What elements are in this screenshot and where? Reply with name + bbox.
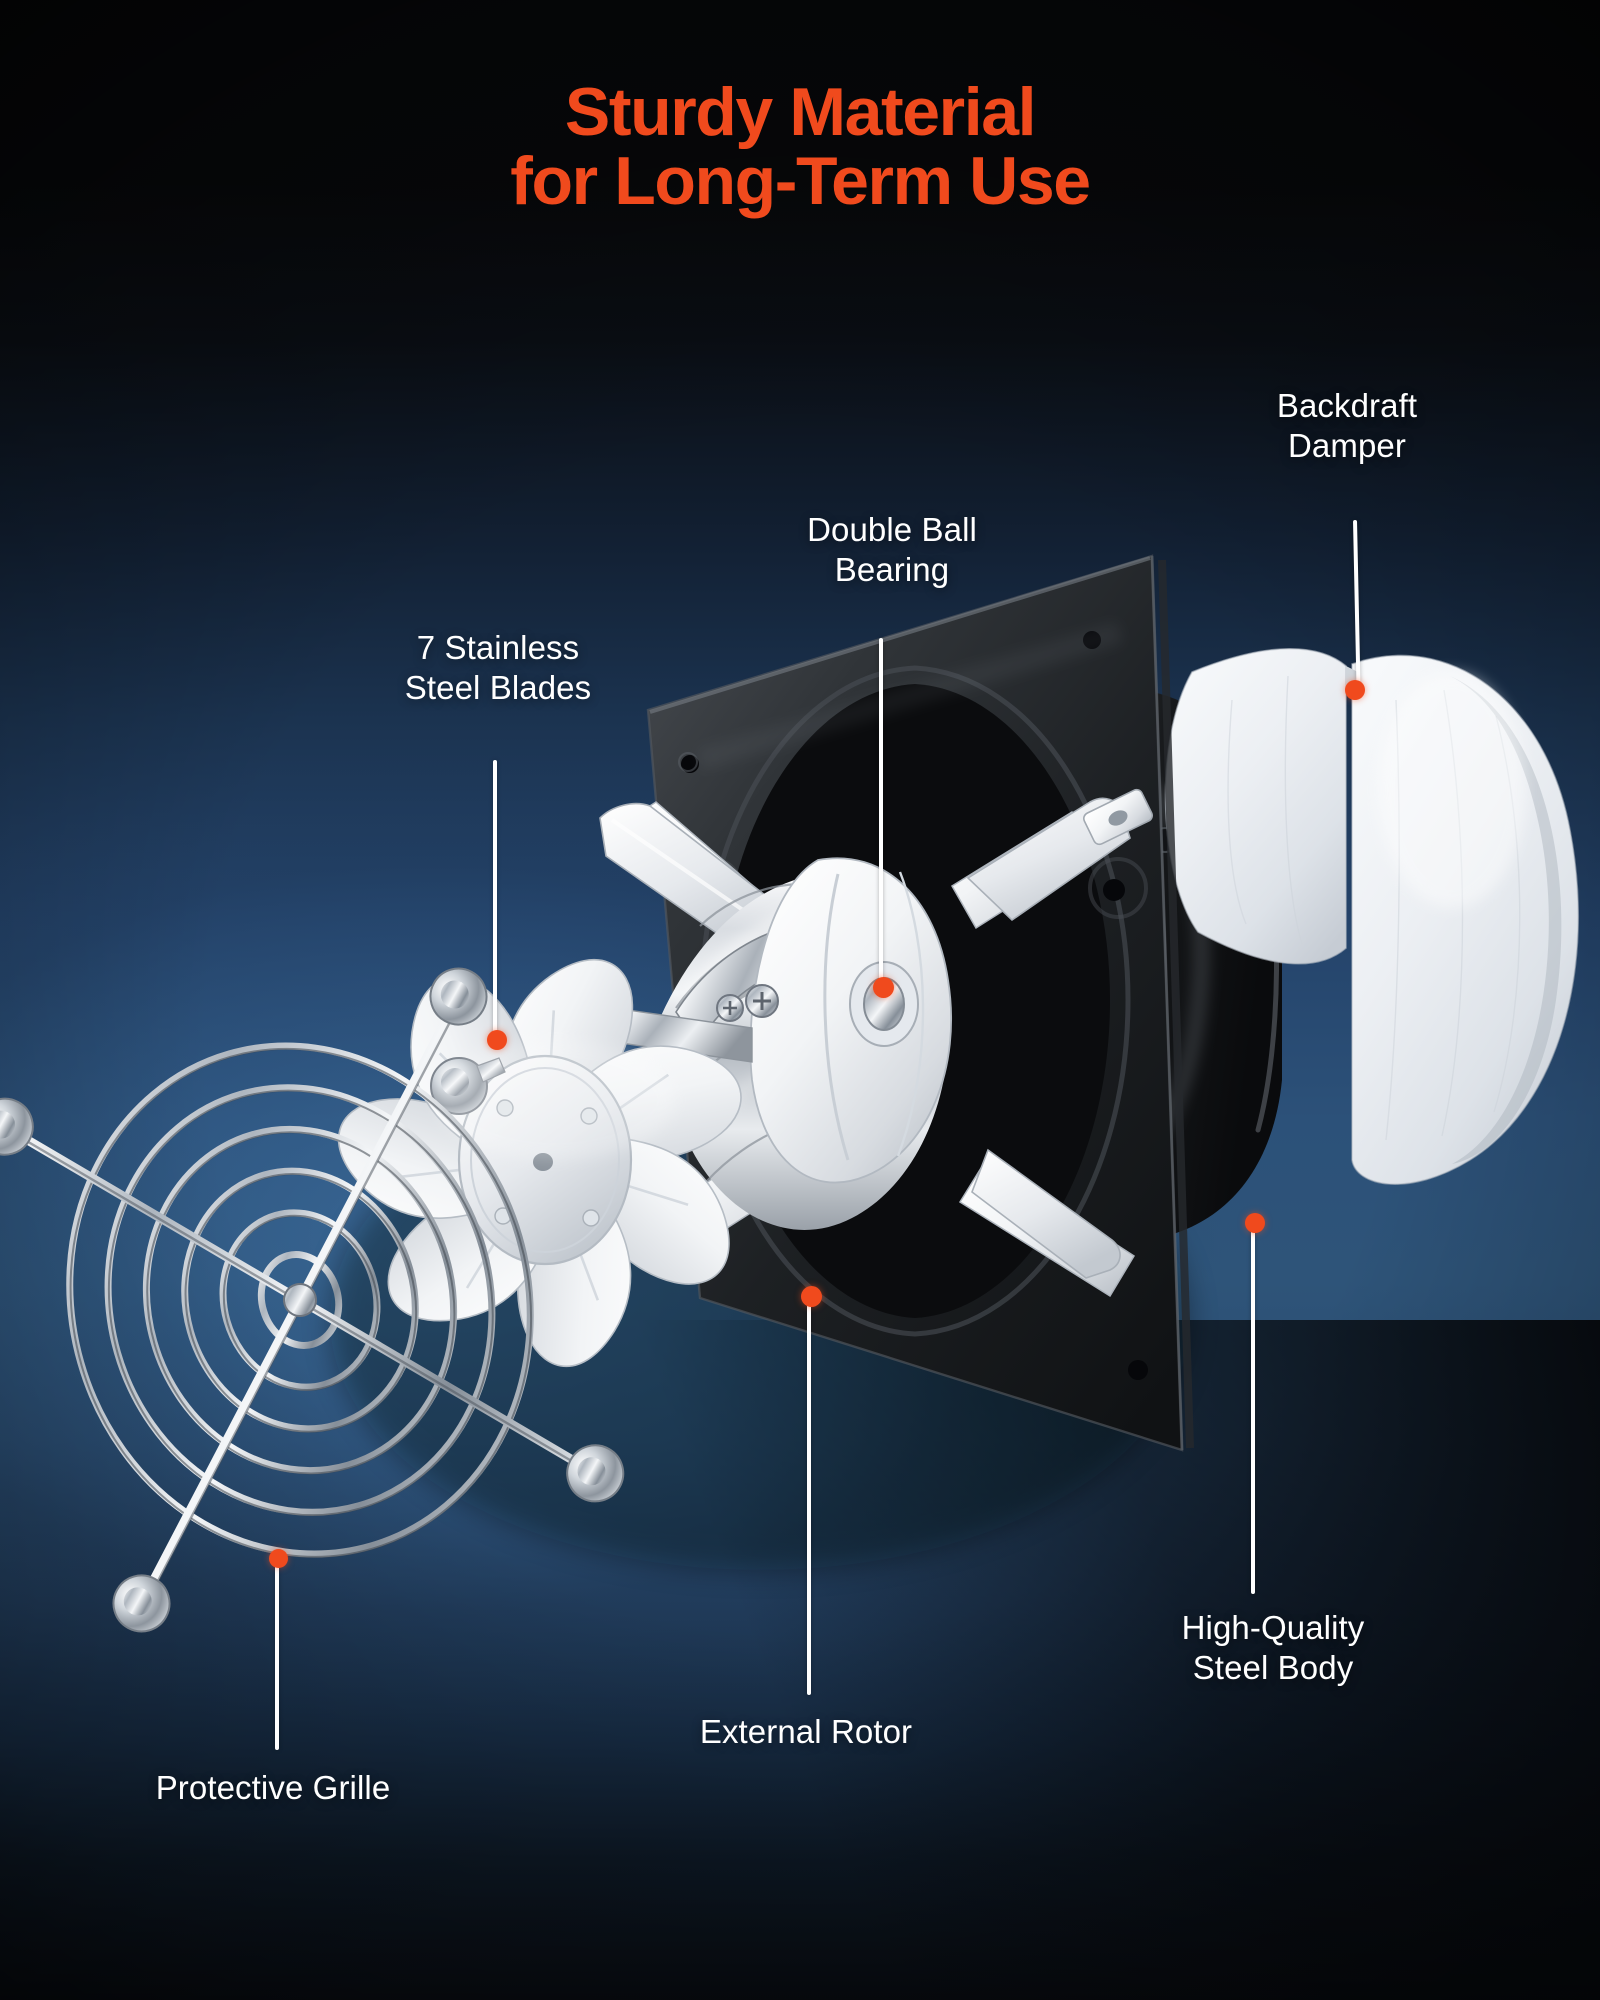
callout-dot-steelbody xyxy=(1245,1213,1265,1233)
callout-leader-line-steelbody xyxy=(1251,1222,1255,1594)
page-title: Sturdy Material for Long-Term Use xyxy=(0,78,1600,217)
callout-leader-line-grille xyxy=(275,1558,279,1750)
callout-dot-damper xyxy=(1345,680,1365,700)
callout-leader-line-rotor xyxy=(807,1295,811,1695)
callout-label-bearing: Double Ball Bearing xyxy=(742,510,1042,591)
callout-dot-bearing xyxy=(873,977,894,998)
callout-dot-blades xyxy=(487,1030,507,1050)
title-line-1: Sturdy Material xyxy=(0,78,1600,147)
callout-leader-line-bearing xyxy=(879,638,883,983)
title-line-2: for Long-Term Use xyxy=(0,147,1600,216)
callout-label-grille: Protective Grille xyxy=(78,1768,468,1808)
infographic-canvas: Sturdy Material for Long-Term Use 7 Stai… xyxy=(0,0,1600,2000)
callout-label-steelbody: High-Quality Steel Body xyxy=(1118,1608,1428,1689)
callout-dot-grille xyxy=(269,1549,288,1568)
callout-label-damper: Backdraft Damper xyxy=(1212,386,1482,467)
product-exploded-illustration xyxy=(0,0,1600,2000)
callout-label-rotor: External Rotor xyxy=(636,1712,976,1752)
callout-label-blades: 7 Stainless Steel Blades xyxy=(338,628,658,709)
callout-dot-rotor xyxy=(801,1286,822,1307)
callout-leader-line-blades xyxy=(493,760,497,1038)
